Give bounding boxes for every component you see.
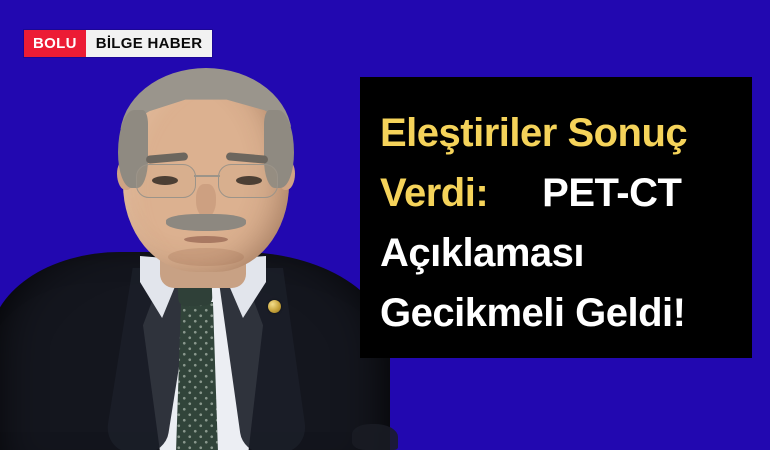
eyeglass-lens-right <box>218 164 278 198</box>
portrait-photo <box>0 0 420 450</box>
logo-primary-text: BOLU <box>24 30 86 57</box>
photo-edge-artifact <box>352 424 398 450</box>
headline-line-3: Açıklaması <box>380 223 740 283</box>
chin-shadow <box>168 248 244 266</box>
headline-line-4: Gecikmeli Geldi! <box>380 283 740 343</box>
banner-canvas: BOLU BİLGE HABER <box>0 0 770 450</box>
necktie <box>176 302 218 450</box>
logo-secondary-text: BİLGE HABER <box>86 30 213 57</box>
eyeglass-lens-left <box>136 164 196 198</box>
site-logo[interactable]: BOLU BİLGE HABER <box>24 30 212 57</box>
mouth <box>184 236 228 243</box>
headline-line-1: Eleştiriler Sonuç <box>380 103 740 163</box>
headline-line-2: Verdi:PET-CT <box>380 163 740 223</box>
eyeglass-bridge <box>194 175 220 177</box>
headline-text-block: Eleştiriler Sonuç Verdi:PET-CT Açıklamas… <box>380 103 740 343</box>
mustache <box>166 214 246 231</box>
headline-panel: Eleştiriler Sonuç Verdi:PET-CT Açıklamas… <box>360 77 752 358</box>
eyeglasses-icon <box>136 164 278 198</box>
headline-line-2-accent: Verdi: <box>380 171 488 215</box>
headline-line-2-keyword: PET-CT <box>488 171 681 215</box>
lapel-pin-icon <box>268 300 281 313</box>
